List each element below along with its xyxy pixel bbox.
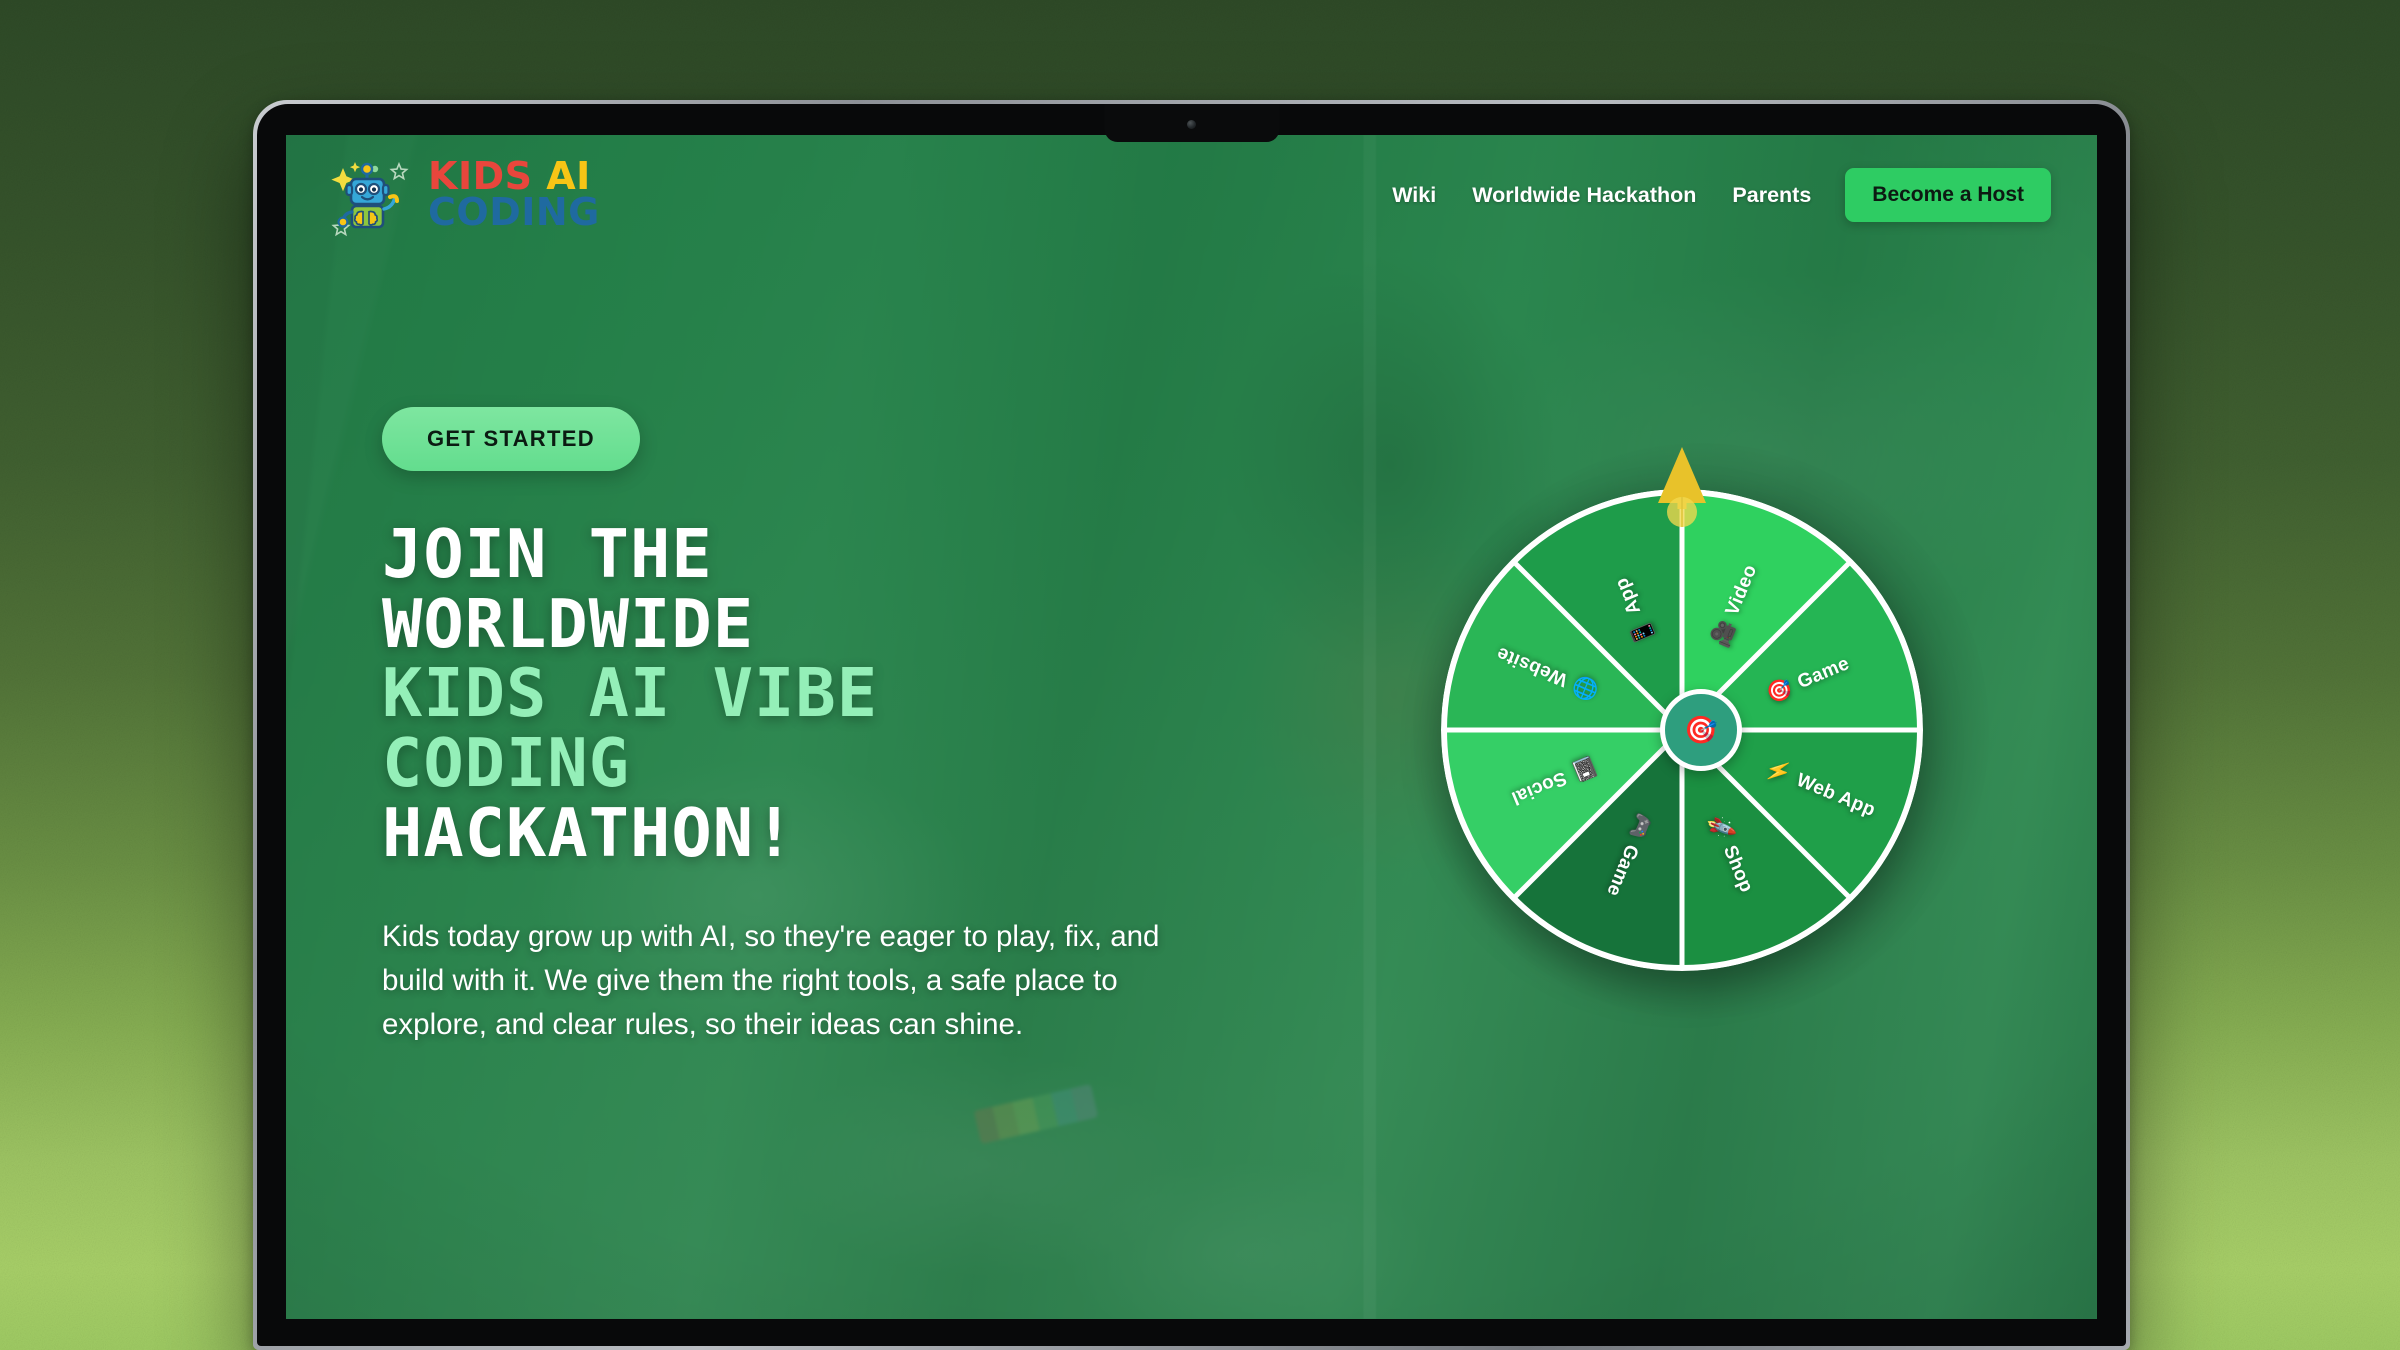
headline-line-2: WORLDWIDE <box>382 590 1222 660</box>
website-page: KIDS AI CODING Wiki Worldwide Hackathon … <box>286 135 2097 1319</box>
nav-link-worldwide-hackathon[interactable]: Worldwide Hackathon <box>1454 173 1714 218</box>
headline-line-1: JOIN THE <box>382 520 1222 590</box>
get-started-button[interactable]: GET STARTED <box>382 407 640 471</box>
brand-logo[interactable]: KIDS AI CODING <box>328 152 600 238</box>
headline-line-3: KIDS AI VIBE <box>382 659 1222 729</box>
camera-icon <box>1187 120 1196 129</box>
screen-notch <box>1104 104 1279 142</box>
headline-line-5: HACKATHON! <box>382 799 1222 869</box>
hero-section: GET STARTED JOIN THEWORLDWIDEKIDS AI VIB… <box>382 407 1222 1046</box>
brand-wordmark: KIDS AI CODING <box>428 159 600 230</box>
headline-line-4: CODING <box>382 729 1222 799</box>
become-a-host-button[interactable]: Become a Host <box>1845 168 2051 222</box>
laptop-bezel: KIDS AI CODING Wiki Worldwide Hackathon … <box>257 104 2126 1346</box>
nav-link-wiki[interactable]: Wiki <box>1374 173 1454 218</box>
laptop-screen: KIDS AI CODING Wiki Worldwide Hackathon … <box>286 135 2097 1319</box>
laptop-device: KIDS AI CODING Wiki Worldwide Hackathon … <box>253 100 2130 1350</box>
laptop-lid: KIDS AI CODING Wiki Worldwide Hackathon … <box>253 100 2130 1350</box>
robot-mascot-icon <box>328 152 414 238</box>
desk-backdrop: KIDS AI CODING Wiki Worldwide Hackathon … <box>0 0 2400 1350</box>
nav-link-parents[interactable]: Parents <box>1714 173 1829 218</box>
hero-headline: JOIN THEWORLDWIDEKIDS AI VIBECODINGHACKA… <box>382 520 1222 868</box>
brand-coding-text: CODING <box>428 195 600 231</box>
prize-wheel[interactable]: 🎮Game📓Social🌐Website📱App🎥Video🎯Game⚡Web … <box>1441 465 1961 985</box>
target-dart-icon: 🎯 <box>1684 714 1718 746</box>
site-navbar: KIDS AI CODING Wiki Worldwide Hackathon … <box>286 135 2097 255</box>
hero-paragraph: Kids today grow up with AI, so they're e… <box>382 915 1182 1046</box>
wheel-pointer-icon <box>1643 443 1721 539</box>
wheel-hub[interactable]: 🎯 <box>1660 689 1742 771</box>
primary-navigation: Wiki Worldwide Hackathon Parents Become … <box>1374 168 2051 222</box>
